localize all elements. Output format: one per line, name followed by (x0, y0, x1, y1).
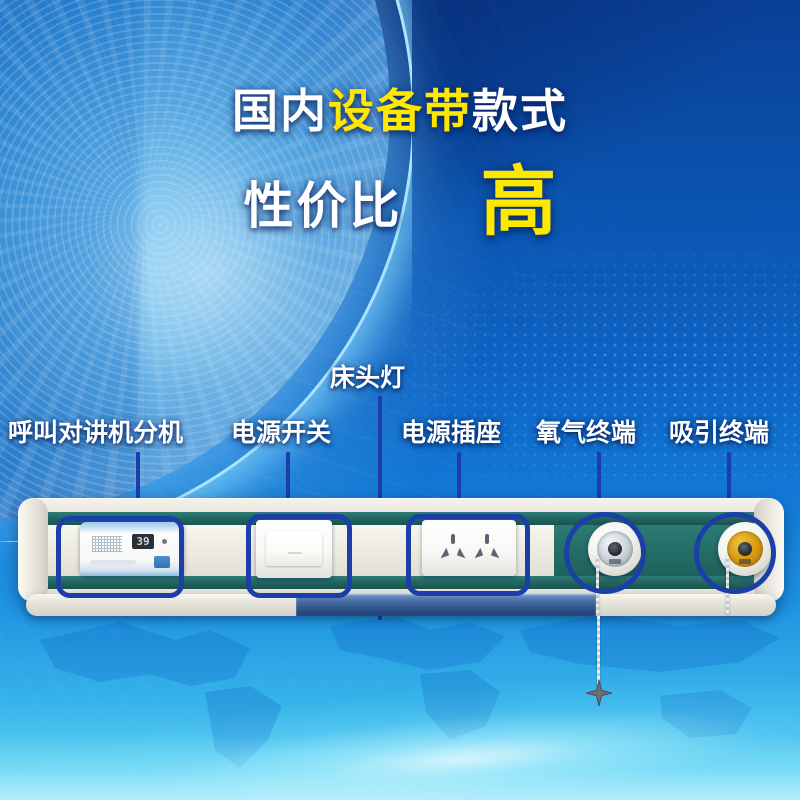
highlight-ring-oxygen-terminal (564, 512, 646, 594)
bottom-gradient-band (0, 735, 800, 800)
callout-label-suction-terminal: 吸引终端 (669, 413, 769, 449)
panel-end-cap-left (18, 498, 48, 602)
headline-part-1: 国内 (232, 84, 328, 138)
pull-cord[interactable] (597, 616, 600, 686)
callout-label-power-socket: 电源插座 (401, 413, 501, 449)
subheadline-accent: 高 (481, 168, 557, 236)
highlight-ring-suction-terminal (694, 512, 776, 594)
headline-part-2-accent: 设备带 (328, 84, 472, 138)
headline-part-3: 款式 (472, 84, 568, 138)
highlight-box-power-switch (246, 514, 352, 598)
headline: 国内设备带款式 (0, 88, 800, 134)
callout-label-power-switch: 电源开关 (231, 413, 331, 449)
subheadline: 性价比高 (0, 166, 800, 238)
subheadline-text: 性价比 (244, 166, 403, 238)
callout-label-intercom: 呼叫对讲机分机 (8, 413, 183, 449)
highlight-box-intercom (56, 516, 184, 598)
pull-cord-weight-icon[interactable] (586, 680, 612, 706)
promo-image-canvas: 国内设备带款式 性价比高 呼叫对讲机分机 电源开关 床头灯 电源插座 氧气终端 … (0, 0, 800, 800)
highlight-box-power-socket (406, 514, 530, 596)
callout-label-oxygen-terminal: 氧气终端 (536, 413, 636, 449)
callout-label-bed-lamp: 床头灯 (330, 358, 405, 394)
